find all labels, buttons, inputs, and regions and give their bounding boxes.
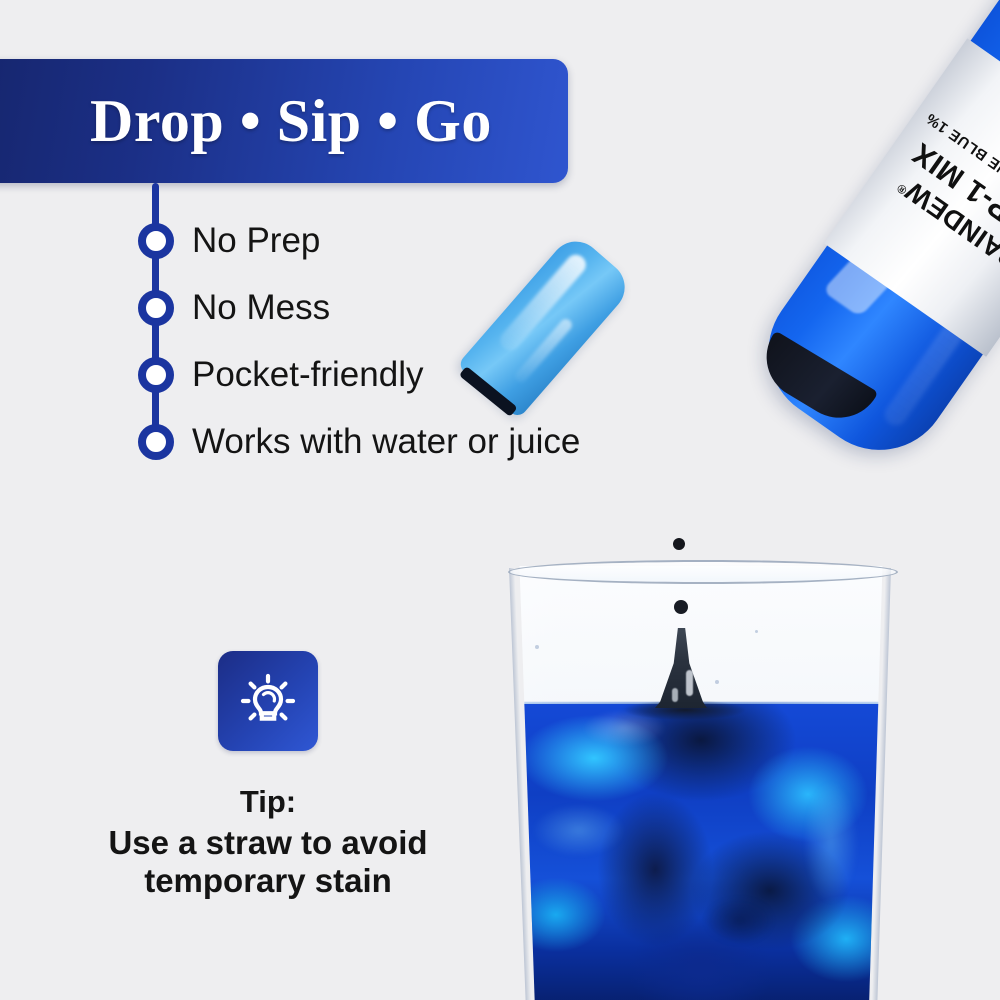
tip-text-line-1: Use a straw to avoid: [0, 824, 536, 862]
list-item-label: Works with water or juice: [192, 422, 580, 462]
bullet-ring-icon: [138, 424, 174, 460]
falling-droplet: [674, 600, 688, 614]
lightbulb-icon: [237, 670, 299, 732]
bubble: [535, 645, 539, 649]
tip-icon-badge: [218, 651, 318, 751]
bubble: [715, 680, 719, 684]
bubble: [755, 630, 758, 633]
clear-water-layer: [510, 566, 892, 706]
header-banner: Drop • Sip • Go: [0, 59, 568, 183]
bullet-ring-icon: [138, 290, 174, 326]
glass-body: [510, 566, 892, 1000]
poster-canvas: Drop • Sip • Go No Prep No Mess Pocket-f…: [0, 0, 1000, 1000]
list-item-label: No Prep: [192, 221, 320, 261]
product-bottle: RAINDEW® GLP-1 MIX METHYLENE BLUE 1%: [608, 0, 1000, 595]
splash-highlight: [686, 670, 693, 696]
bullet-ring-icon: [138, 223, 174, 259]
list-item-label: No Mess: [192, 288, 330, 328]
falling-droplet: [673, 538, 685, 550]
tip-text-line-2: temporary stain: [0, 862, 536, 900]
dye-swirl-detail: [510, 704, 892, 1000]
glass-rim: [508, 560, 898, 584]
page-title: Drop • Sip • Go: [90, 87, 492, 156]
water-glass: [500, 560, 900, 1000]
list-item-label: Pocket-friendly: [192, 355, 423, 395]
splash-highlight-secondary: [672, 688, 678, 702]
tip-title: Tip:: [0, 784, 536, 820]
bottle-cap: [457, 231, 636, 419]
blue-dye-layer: [510, 704, 892, 1000]
bullet-ring-icon: [138, 357, 174, 393]
